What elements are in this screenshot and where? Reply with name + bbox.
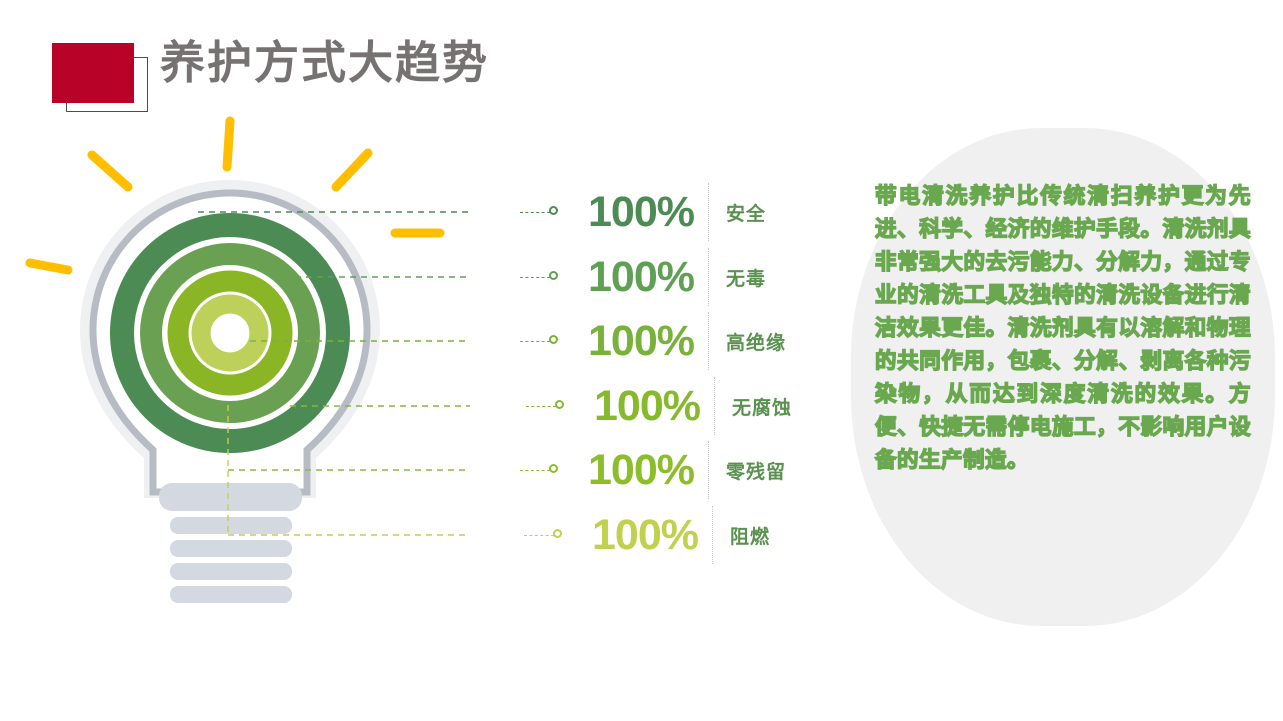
- lightbulb-illustration: [0, 105, 470, 605]
- base-ring-1: [170, 517, 292, 534]
- leader-dash-4: [526, 406, 556, 407]
- stat-row-6[interactable]: 100% 阻燃: [524, 503, 854, 567]
- leader-dot-5: [549, 464, 558, 473]
- ray-upper-left-icon: [92, 155, 128, 187]
- leader-marker-4: [526, 396, 574, 416]
- leader-dot-3: [549, 335, 558, 344]
- stat-row-4[interactable]: 100% 无腐蚀: [526, 374, 856, 438]
- ray-top-icon: [227, 121, 230, 167]
- stat-value-2: 100%: [568, 256, 708, 299]
- page-title: 养护方式大趋势: [160, 40, 489, 85]
- stat-divider-4: [714, 377, 715, 435]
- base-ring-2: [170, 540, 292, 557]
- stat-value-6: 100%: [572, 514, 712, 557]
- lightbulb-graphic: [0, 105, 470, 605]
- title-red-square-decoration: [52, 43, 134, 103]
- stat-label-4: 无腐蚀: [732, 393, 792, 420]
- base-ring-4: [170, 586, 292, 603]
- leader-marker-5: [520, 460, 568, 480]
- leader-marker-6: [524, 525, 572, 545]
- stat-divider-5: [708, 441, 709, 499]
- stat-row-2[interactable]: 100% 无毒: [520, 245, 850, 309]
- stat-row-3[interactable]: 100% 高绝缘: [520, 309, 850, 373]
- stat-label-2: 无毒: [726, 264, 766, 291]
- stat-value-5: 100%: [568, 449, 708, 492]
- base-collar: [159, 483, 302, 511]
- leader-dash-5: [520, 470, 550, 471]
- ray-upper-right-icon: [336, 153, 368, 187]
- stat-value-3: 100%: [568, 320, 708, 363]
- leader-dash-3: [520, 341, 550, 342]
- info-panel-body-text: 带电清洗养护比传统清扫养护更为先进、科学、经济的维护手段。清洗剂具非常强大的去污…: [875, 180, 1251, 477]
- stat-divider-2: [708, 248, 709, 306]
- stat-label-1: 安全: [726, 199, 766, 226]
- bulb-base-group: [159, 483, 302, 605]
- leader-dot-1: [549, 206, 558, 215]
- stat-divider-6: [712, 506, 713, 564]
- stat-label-3: 高绝缘: [726, 328, 786, 355]
- leader-dot-4: [555, 400, 564, 409]
- leader-dot-6: [553, 529, 562, 538]
- ray-left-icon: [30, 263, 68, 270]
- leader-marker-3: [520, 331, 568, 351]
- leader-marker-2: [520, 267, 568, 287]
- stat-row-1[interactable]: 100% 安全: [520, 180, 850, 244]
- leader-dash-6: [524, 535, 554, 536]
- stat-value-1: 100%: [568, 191, 708, 234]
- stat-label-5: 零残留: [726, 457, 786, 484]
- leader-dot-2: [549, 271, 558, 280]
- stat-divider-3: [708, 312, 709, 370]
- slide-canvas: 养护方式大趋势: [0, 0, 1283, 721]
- stat-value-4: 100%: [574, 385, 714, 428]
- leader-dash-2: [520, 277, 550, 278]
- stat-divider-1: [708, 183, 709, 241]
- stat-row-5[interactable]: 100% 零残留: [520, 438, 850, 502]
- info-panel: 带电清洗养护比传统清扫养护更为先进、科学、经济的维护手段。清洗剂具非常强大的去污…: [851, 128, 1275, 626]
- leader-marker-1: [520, 202, 568, 222]
- stat-label-6: 阻燃: [730, 522, 770, 549]
- leader-dash-1: [520, 212, 550, 213]
- base-ring-3: [170, 563, 292, 580]
- stats-list: 100% 安全 100% 无毒 100% 高绝缘: [520, 170, 850, 570]
